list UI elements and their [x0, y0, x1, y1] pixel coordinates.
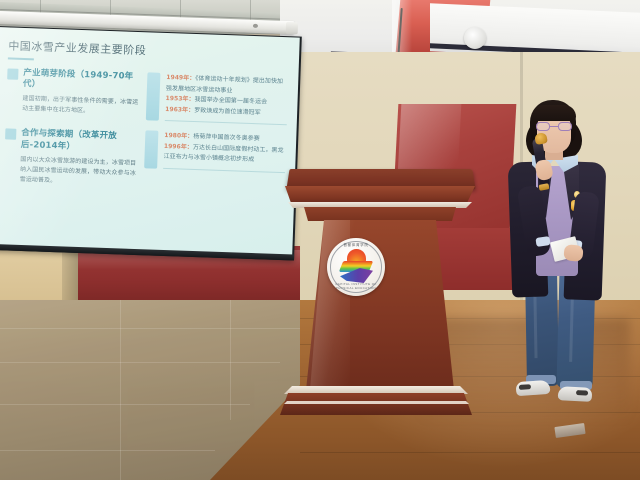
section-marker-icon — [5, 129, 16, 140]
slide-right-column: 1949年：《体育运动十年规划》提出加快加强发展地区冰雪运动事业 1953年：我… — [143, 72, 288, 208]
infobox-accent-bar — [146, 72, 161, 120]
section-body: 建国初期，出于军事性条件的需要，冰雪运动主要集中在北方地区。 — [22, 94, 139, 118]
section-marker-icon — [7, 68, 18, 79]
section-heading: 产业萌芽阶段（1949-70年代） — [23, 68, 140, 94]
infobox-year: 1963年： — [165, 105, 194, 113]
university-crest-icon: 首都体育学院 CAPITAL INSTITUTE OF PHYSICAL EDU… — [327, 238, 385, 296]
infobox-year: 1980年： — [164, 132, 193, 140]
slide-left-column: 产业萌芽阶段（1949-70年代） 建国初期，出于军事性条件的需要，冰雪运动主要… — [3, 67, 139, 203]
title-underline — [8, 57, 34, 60]
slide-title: 中国冰雪产业发展主要阶段 — [8, 37, 287, 63]
podium: 首都体育学院 CAPITAL INSTITUTE OF PHYSICAL EDU… — [280, 168, 495, 418]
slide-section: 产业萌芽阶段（1949-70年代） 建国初期，出于军事性条件的需要，冰雪运动主要… — [6, 67, 140, 118]
section-body: 国内以大众冰雪旅游的建设为主，冰雪项目纳入国民冰雪运动的发展，带动大众参与冰雪运… — [19, 154, 136, 189]
infobox-accent-bar — [144, 130, 158, 168]
infobox-detail: 我国举办全国第一届冬运会 — [194, 96, 267, 106]
slide-section: 合作与探索期（改革开放后-2014年） 国内以大众冰雪旅游的建设为主，冰雪项目纳… — [3, 128, 137, 189]
right-shoe — [558, 386, 593, 402]
glasses-lens-right — [558, 122, 572, 131]
slide-infobox: 1980年：杨菊萍中国首次冬奥参赛 1996年：万达长白山国际度假村动工，黑龙江… — [144, 130, 286, 172]
glasses-lens-left — [536, 122, 550, 131]
infobox-year: 1996年： — [164, 142, 193, 150]
slide-infobox: 1949年：《体育运动十年规划》提出加快加强发展地区冰雪运动事业 1953年：我… — [146, 72, 289, 125]
lecture-hall-photo: 科技沙龙第13期：甄彩 中国冰雪产业发展主要阶段 产业萌芽阶段（1949-70年… — [0, 0, 640, 480]
screen-surface: 中国冰雪产业发展主要阶段 产业萌芽阶段（1949-70年代） 建国初期，出于军事… — [0, 27, 300, 255]
infobox-year: 1953年： — [165, 95, 194, 103]
section-heading: 合作与探索期（改革开放后-2014年） — [21, 128, 138, 154]
crest-chinese-text: 首都体育学院 — [327, 243, 385, 248]
projection-screen: 中国冰雪产业发展主要阶段 产业萌芽阶段（1949-70年代） 建国初期，出于军事… — [0, 26, 302, 261]
infobox-line: 1996年：万达长白山国际度假村动工，黑龙江亚布力与冰雪小镇概念初步形成 — [163, 141, 286, 166]
infobox-text: 1980年：杨菊萍中国首次冬奥参赛 1996年：万达长白山国际度假村动工，黑龙江… — [163, 131, 286, 173]
crest-english-text: CAPITAL INSTITUTE OF PHYSICAL EDUCATION — [327, 282, 385, 290]
presentation-slide: 中国冰雪产业发展主要阶段 产业萌芽阶段（1949-70年代） 建国初期，出于军事… — [0, 27, 300, 255]
right-hand — [563, 244, 584, 262]
hair-fringe — [532, 105, 576, 121]
slide-body: 产业萌芽阶段（1949-70年代） 建国初期，出于军事性条件的需要，冰雪运动主要… — [3, 67, 288, 208]
left-shoe — [516, 380, 551, 396]
purple-frame-glasses-icon — [536, 122, 572, 131]
podium-base-line — [277, 401, 476, 404]
podium-top-face — [285, 186, 475, 203]
infobox-detail: 罗致焕成为首位速滑冠军 — [194, 106, 261, 115]
housing-knob — [253, 24, 258, 28]
ceiling-speaker-icon — [464, 27, 486, 49]
infobox-year: 1949年： — [166, 74, 195, 82]
infobox-text: 1949年：《体育运动十年规划》提出加快加强发展地区冰雪运动事业 1953年：我… — [165, 73, 289, 125]
speaker-person — [486, 100, 626, 410]
podium-neck — [304, 207, 456, 221]
housing-end-cap — [286, 22, 298, 34]
podium-base — [274, 393, 478, 415]
podium-base-trim — [278, 386, 474, 394]
infobox-detail: 杨菊萍中国首次冬奥参赛 — [193, 133, 260, 142]
glasses-bridge — [550, 126, 558, 127]
